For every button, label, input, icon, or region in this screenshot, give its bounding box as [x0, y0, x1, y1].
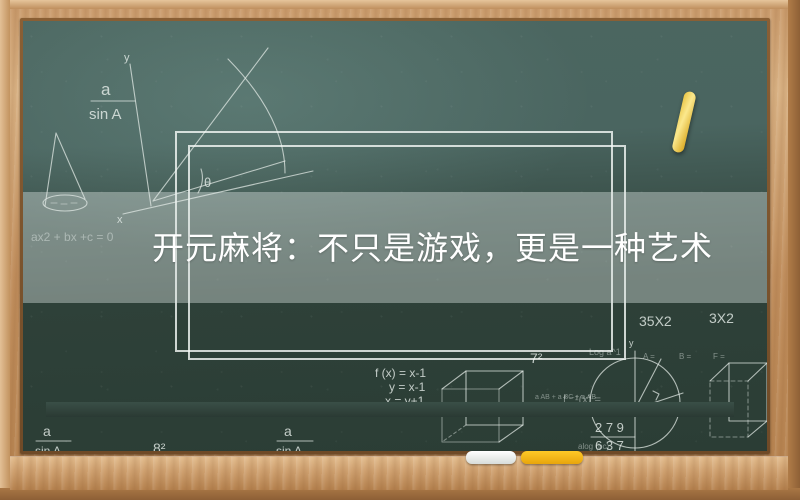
chalk-text-sine-denom-3: sin A — [276, 444, 302, 451]
chalk-stick-tray-yellow-icon — [521, 451, 583, 464]
chalk-text-axis-y: y — [124, 52, 130, 64]
chalk-text-sine-denom-2: sin A — [35, 444, 61, 451]
frame-left-edge — [0, 0, 10, 500]
chalkboard-slate: a sin A y x θ ax2 + bx +c = 0 f (x) = x-… — [23, 21, 767, 451]
chalk-text-circle-axis-y: y — [629, 338, 634, 348]
chalk-group-bottom-center: f (x) = x-1 y = x-1 x = y+1 7² a AB + a … — [35, 350, 596, 451]
chalkboard-banner: a sin A y x θ ax2 + bx +c = 0 f (x) = x-… — [0, 0, 800, 500]
page-title: 开元麻将：不只是游戏，更是一种艺术 — [152, 232, 713, 264]
chalk-text-3x2: 3X2 — [709, 310, 734, 326]
chalk-text-fx-2: y = x-1 — [389, 380, 426, 394]
chalk-text-matrix-a: A = — [643, 352, 655, 361]
chalk-text-sine-a-3: a — [284, 423, 292, 439]
chalk-text-sine-denom: sin A — [89, 106, 122, 123]
chalk-text-matrix-b: B = — [679, 352, 692, 361]
chalk-text-fx-1: f (x) = x-1 — [375, 366, 426, 380]
frame-top-edge — [0, 0, 800, 9]
chalk-shape-cube-right — [710, 363, 767, 437]
frame-right-edge — [788, 0, 800, 500]
chalk-stick-tray-white-icon — [466, 451, 516, 464]
chalk-text-sine-a-2: a — [43, 423, 51, 439]
chalk-text-matrix-f: F = — [713, 352, 725, 361]
chalk-text-sum-row-2: 2 7 9 — [595, 420, 624, 435]
chalk-ledge — [10, 456, 788, 490]
chalk-text-sum-row-3: 6 3 7 — [595, 438, 624, 451]
chalk-text-35x2: 35X2 — [639, 313, 672, 329]
chalk-text-exponent-8: 8² — [153, 440, 166, 451]
chalk-text-sine-a: a — [101, 80, 111, 99]
title-band: 开元麻将：不只是游戏，更是一种艺术 — [23, 192, 767, 303]
board-tray-shadow — [46, 402, 734, 417]
